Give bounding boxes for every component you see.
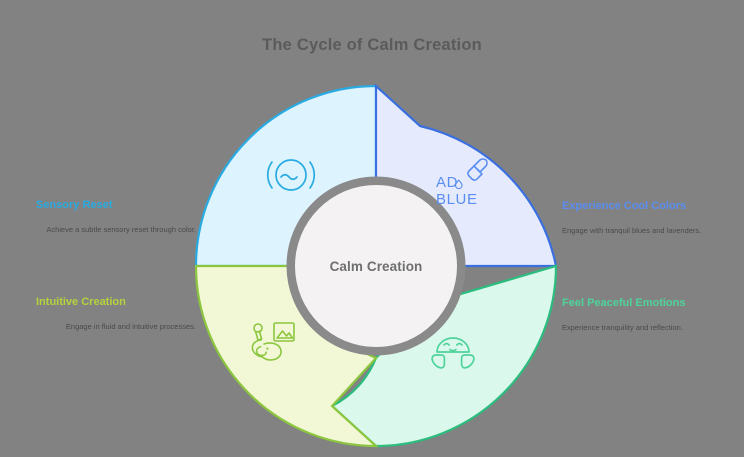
label-desc-feel-peaceful-emotions: Experience tranquility and reflection. (562, 322, 722, 333)
label-title-feel-peaceful-emotions: Feel Peaceful Emotions (562, 297, 722, 310)
adblue-icon-text: AD BLUE (436, 174, 478, 208)
hub-disc (295, 185, 457, 347)
label-sensory-reset[interactable]: Sensory Reset Achieve a subtle sensory r… (36, 199, 196, 235)
label-desc-sensory-reset: Achieve a subtle sensory reset through c… (36, 224, 196, 235)
infographic-canvas: The Cycle of Calm Creation Calm Creation (0, 0, 744, 457)
cycle-donut-chart (192, 82, 560, 450)
adblue-line-2: BLUE (436, 191, 478, 208)
label-desc-experience-cool-colors: Engage with tranquil blues and lavenders… (562, 225, 722, 236)
label-feel-peaceful-emotions[interactable]: Feel Peaceful Emotions Experience tranqu… (562, 297, 722, 333)
page-title: The Cycle of Calm Creation (0, 36, 744, 55)
label-experience-cool-colors[interactable]: Experience Cool Colors Engage with tranq… (562, 200, 722, 236)
paintbrush-palette-picture-icon (248, 320, 298, 366)
label-desc-intuitive-creation: Engage in fluid and intuitive processes. (36, 321, 196, 332)
label-title-sensory-reset: Sensory Reset (36, 199, 196, 212)
hugging-face-icon (430, 330, 476, 370)
adblue-line-1: AD (436, 174, 478, 191)
label-title-experience-cool-colors: Experience Cool Colors (562, 200, 722, 213)
sound-wave-circle-icon (264, 152, 318, 198)
label-intuitive-creation[interactable]: Intuitive Creation Engage in fluid and i… (36, 296, 196, 332)
label-title-intuitive-creation: Intuitive Creation (36, 296, 196, 309)
